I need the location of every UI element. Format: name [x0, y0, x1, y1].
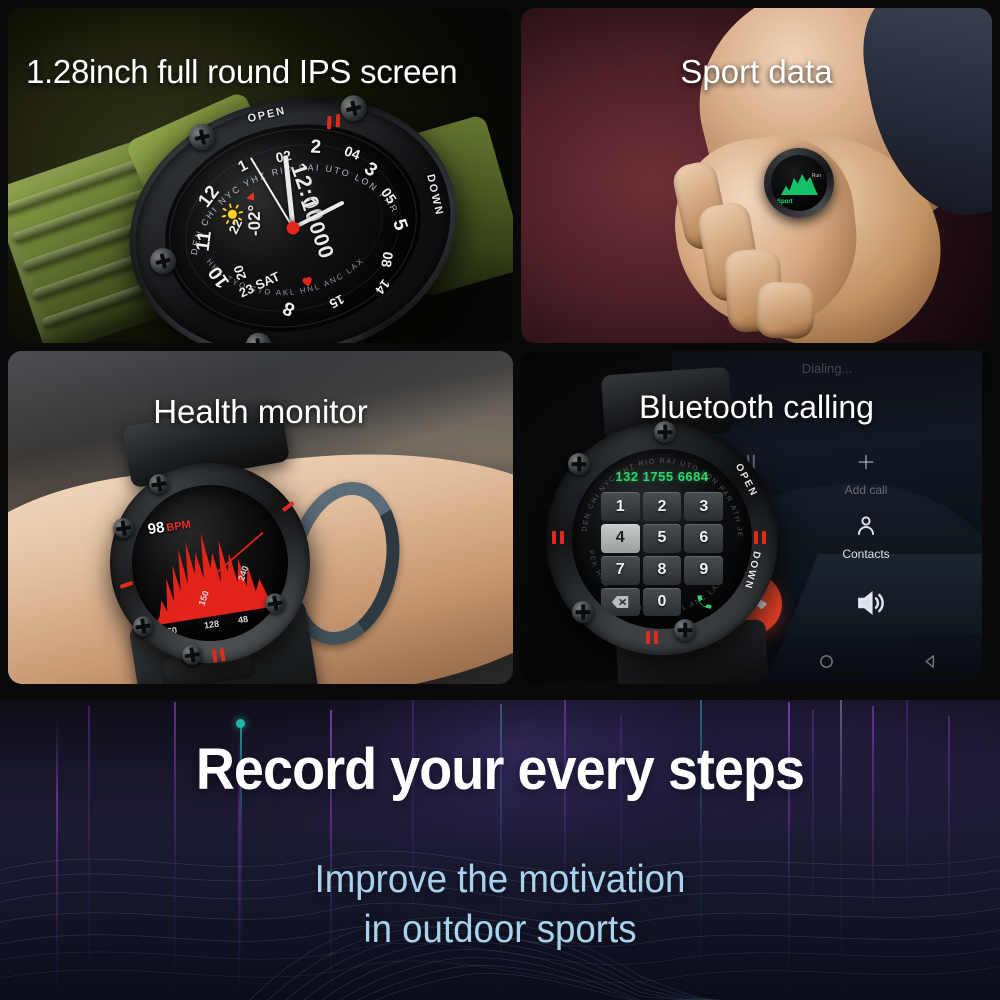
phone-action-label: Add call: [845, 483, 888, 497]
smartwatch-calling: OPEN DOWN DEN CHI NYC YH: [546, 423, 778, 655]
dialpad-key-0[interactable]: 0: [643, 588, 682, 617]
banner-subtitle: Improve the motivation in outdoor sports: [30, 855, 970, 955]
heart-rate-unit: BPM: [166, 518, 192, 534]
panel-caption-sport-data: Sport data: [680, 53, 832, 91]
panel-caption-bluetooth-calling: Bluetooth calling: [639, 389, 874, 426]
promo-banner: Record your every steps Improve the moti…: [0, 700, 1000, 1000]
hr-value-high: 128: [203, 618, 219, 630]
bezel-red-tick: [646, 631, 650, 644]
dialpad-call-button[interactable]: [684, 588, 723, 617]
phone-call-icon: [694, 592, 714, 612]
bezel-red-tick: [327, 116, 332, 129]
dialpad-key-9[interactable]: 9: [684, 556, 723, 585]
panel-sport-data: Sport Run Sport data: [521, 8, 992, 343]
smartwatch-product: OPEN DOWN DEN CHI NYC YH: [103, 66, 482, 343]
speaker-icon: [854, 587, 886, 619]
dialpad-key-1[interactable]: 1: [601, 492, 640, 521]
dialed-number: 132 1755 6684: [572, 469, 752, 484]
bezel-screw-icon: [568, 453, 590, 475]
dialpad-key-5[interactable]: 5: [643, 524, 682, 553]
call-status-text: Dialing...: [802, 361, 853, 376]
temperature-value: -02°: [245, 204, 266, 236]
watch-display: Sport Run: [771, 155, 827, 211]
feature-grid: OPEN DOWN DEN CHI NYC YH: [0, 0, 1000, 700]
bezel-red-tick: [654, 631, 658, 644]
dialpad-key-3[interactable]: 3: [684, 492, 723, 521]
bezel-red-tick: [560, 531, 564, 544]
bezel-red-tick: [762, 531, 766, 544]
banner-subtitle-line2: in outdoor sports: [30, 905, 970, 955]
person-icon: [822, 513, 910, 540]
dialpad-backspace-button[interactable]: [601, 588, 640, 617]
bezel-red-tick: [336, 114, 341, 127]
phone-action-add-call[interactable]: Add call: [826, 451, 906, 497]
phone-action-label: Contacts: [842, 547, 889, 561]
bezel-screw-icon: [572, 601, 594, 623]
home-icon[interactable]: [818, 653, 835, 675]
smartwatch-health: 98BPM 60 128 48 240 150: [96, 449, 325, 678]
dialpad-key-2[interactable]: 2: [643, 492, 682, 521]
dialpad-key-8[interactable]: 8: [643, 556, 682, 585]
banner-subtitle-line1: Improve the motivation: [30, 855, 970, 905]
dialpad-key-7[interactable]: 7: [601, 556, 640, 585]
smartwatch-sport: Sport Run: [764, 148, 834, 218]
panel-health-monitor: 98BPM 60 128 48 240 150 Health monitor: [8, 351, 513, 684]
watch-display: DEN CHI NYC YHZ RIO RAI UTO LON PAR ATH …: [572, 449, 752, 629]
panel-ips-screen: OPEN DOWN DEN CHI NYC YH: [8, 8, 513, 343]
plus-icon: [826, 451, 906, 476]
dialpad[interactable]: 1 2 3 4 5 6 7 8 9: [601, 492, 723, 616]
speaker-button[interactable]: [854, 587, 886, 624]
banner-title: Record your every steps: [35, 736, 965, 803]
bezel-red-tick: [552, 531, 556, 544]
dialpad-key-4[interactable]: 4: [601, 524, 640, 553]
heart-rate-value: 98: [146, 518, 165, 537]
panel-caption-health-monitor: Health monitor: [153, 393, 368, 431]
panel-bluetooth-calling: Dialing... Hold: [521, 351, 992, 684]
back-icon[interactable]: [922, 653, 939, 675]
hr-axis-low: 60: [166, 625, 177, 636]
phone-action-contacts[interactable]: Contacts: [822, 513, 910, 561]
panel-caption-ips-screen: 1.28inch full round IPS screen: [26, 53, 457, 91]
bezel-red-tick: [754, 531, 758, 544]
accent-dot: [236, 719, 245, 728]
backspace-icon: [611, 595, 629, 609]
bezel-screw-icon: [674, 619, 696, 641]
dialpad-key-6[interactable]: 6: [684, 524, 723, 553]
product-feature-poster: OPEN DOWN DEN CHI NYC YH: [0, 0, 1000, 1000]
